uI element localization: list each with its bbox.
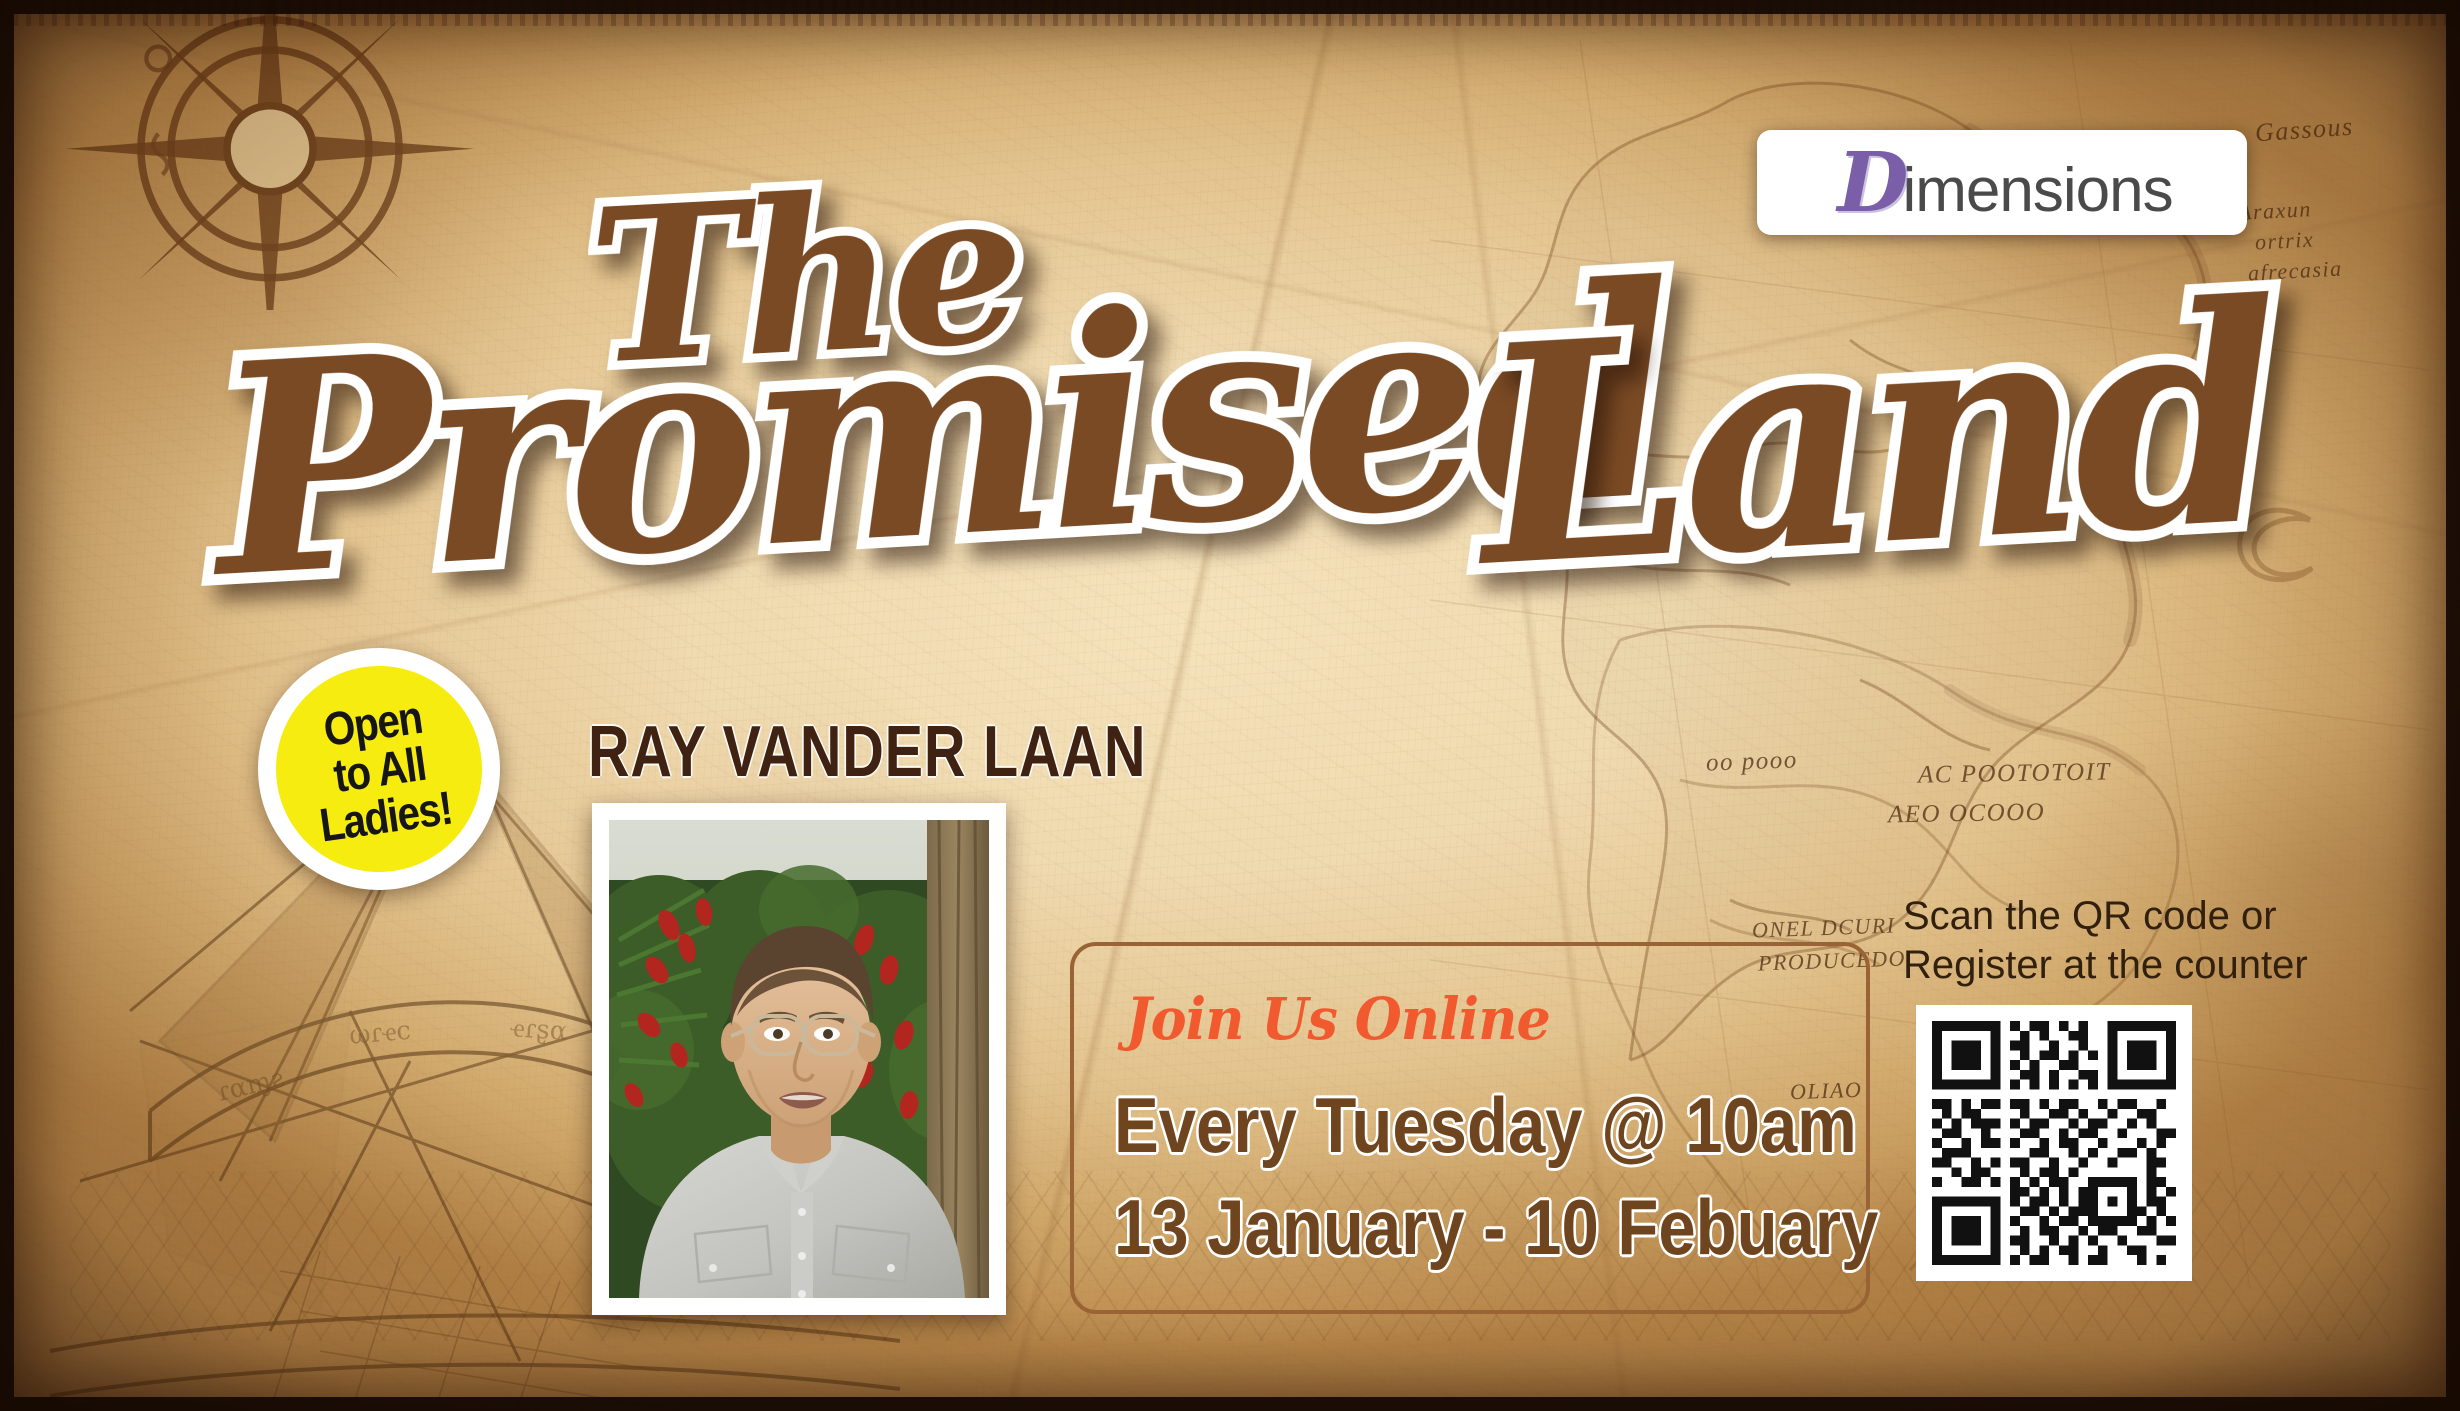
- event-schedule: Every Tuesday @ 10am: [1114, 1086, 1857, 1164]
- dimensions-logo-text: imensions: [1902, 160, 2172, 222]
- dimensions-logo[interactable]: D imensions: [1757, 130, 2247, 235]
- badge-inner-disc: Open to All Ladies!: [263, 653, 496, 886]
- event-dates: 13 January - 10 Febuary: [1114, 1188, 1878, 1266]
- join-us-online-label: Join Us Online: [1126, 990, 1550, 1048]
- qr-code[interactable]: [1916, 1005, 2192, 1281]
- speaker-name: RAY VANDER LAAN: [588, 716, 1146, 788]
- event-details-box: Join Us Online Every Tuesday @ 10am 13 J…: [1070, 942, 1870, 1314]
- speaker-photo-frame: [592, 803, 1006, 1315]
- dimensions-logo-wordmark: D imensions: [1837, 142, 2172, 224]
- qr-instructions: Scan the QR code or Register at the coun…: [1903, 892, 2308, 990]
- poster-canvas: Gassous Araxun ortrix afrecasia oo pooo …: [0, 0, 2460, 1411]
- dimensions-logo-initial: D: [1837, 142, 1908, 224]
- qr-instructions-line-1: Scan the QR code or: [1903, 892, 2308, 941]
- qr-instructions-line-2: Register at the counter: [1903, 941, 2308, 990]
- speaker-photo: [609, 820, 989, 1298]
